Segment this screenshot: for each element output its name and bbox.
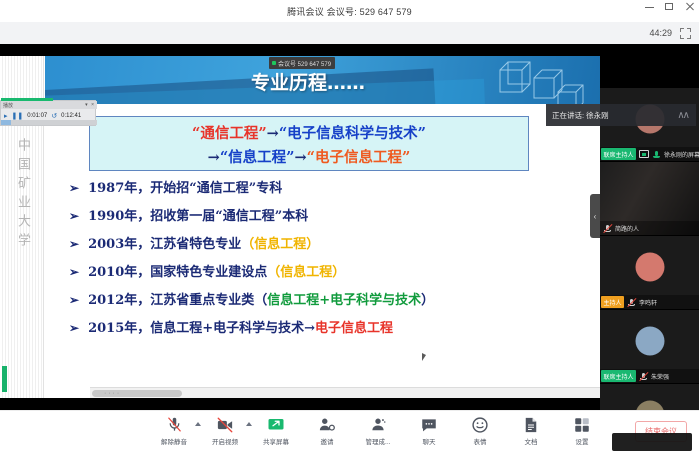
highlight-line-2-run-0: → (208, 149, 220, 166)
invite-user-icon (308, 415, 346, 434)
highlight-line-1-run-0: “通信工程” (192, 125, 267, 142)
chevron-up-icon[interactable] (195, 422, 201, 426)
participant-namebar: 联席主持人朱荣强 (600, 369, 699, 383)
highlight-line-2-run-1: “信息工程” (220, 149, 295, 166)
current-speaker-label: 正在讲话: 徐永刚 ∧∧ (546, 104, 696, 126)
player-title: 播放 (3, 102, 13, 109)
participant-tile[interactable]: 联席主持人朱荣强 (600, 310, 699, 384)
mic-on-icon (652, 150, 661, 159)
toolbar-item-label: 开启视频 (206, 436, 244, 446)
meeting-timer: 44:29 (649, 28, 672, 38)
slide-body: 专业历程…… 会议号 529 647 579 “通信工程”→“电子信息科学与技术… (45, 56, 600, 398)
participant-role-badge: 联席主持人 (601, 370, 636, 382)
participant-tile[interactable]: 简路的人 (600, 162, 699, 236)
mic-muted-icon (155, 415, 193, 434)
pause-icon[interactable]: ❚❚ (12, 112, 24, 120)
highlight-line-2-run-2: → (295, 149, 307, 166)
slide-bullet-text: 2012年，江苏省重点专业类（信息工程+电子科学与技术） (88, 292, 434, 309)
window-controls (644, 1, 695, 12)
chevron-up-icon[interactable] (246, 422, 252, 426)
slide-vertical-brand: 中国矿业大学 (13, 138, 32, 252)
participant-namebar: 主持人李鸣轩 (600, 295, 699, 309)
media-player-overlay[interactable]: 播放 ▾ × ▸ ❚❚ 0:01:07 ↺ 0:12:41 (0, 100, 96, 126)
mic-muted-icon (627, 298, 636, 307)
participant-name: 朱荣强 (651, 372, 669, 381)
slide-bullet-text: 2010年，国家特色专业建设点（信息工程） (88, 264, 345, 281)
toolbar-settings-grid-button[interactable]: 设置 (563, 415, 601, 446)
bullet-marker-icon: ➢ (69, 292, 79, 309)
manage-members-icon (359, 415, 397, 434)
participant-tile[interactable]: 主持人李鸣轩 (600, 236, 699, 310)
camera-off-icon (206, 415, 244, 434)
bullet-0-run-0: 1987年，开始招“通信工程”专科 (88, 181, 282, 196)
toolbar-document-button[interactable]: 文档 (512, 415, 550, 446)
meeting-number-text: 会议号 529 647 579 (278, 62, 331, 68)
toolbar-item-label: 表情 (461, 436, 499, 446)
settings-grid-icon (563, 415, 601, 434)
meeting-toolbar: 解除静音开启视频共享屏幕邀请管理成...聊天表情文档设置 结束会议 (0, 410, 699, 451)
slide-bullet-text: 2015年，信息工程+电子科学与技术→电子信息工程 (88, 320, 393, 337)
meeting-subbar: 44:29 (0, 22, 699, 44)
slide-bullet-item: ➢2003年，江苏省特色专业（信息工程） (69, 236, 589, 253)
highlight-line-1-run-2: “电子信息科学与技术” (279, 125, 426, 142)
player-progress-track[interactable] (1, 120, 97, 125)
player-total-time: 0:12:41 (61, 113, 81, 119)
participant-name: 简路的人 (615, 224, 639, 233)
slide-bullet-text: 1990年，招收第一届“通信工程”本科 (88, 208, 308, 225)
toolbar-mic-muted-button[interactable]: 解除静音 (155, 415, 193, 446)
bullet-2-run-1: （信息工程） (241, 237, 319, 252)
bullet-4-run-1: 信息工程+电子科学与技术 (267, 293, 421, 308)
fullscreen-icon[interactable] (680, 28, 691, 39)
bullet-marker-icon: ➢ (69, 264, 79, 281)
slide-horizontal-scrollbar[interactable]: · · · · (90, 387, 600, 398)
recording-dot-icon (272, 61, 276, 65)
bullet-4-run-0: 2012年，江苏省重点专业类（ (88, 293, 267, 308)
toolbar-emoji-button[interactable]: 表情 (461, 415, 499, 446)
highlight-line-1-run-1: → (267, 125, 279, 142)
slide-highlight-box: “通信工程”→“电子信息科学与技术” →“信息工程”→“电子信息工程” (89, 116, 529, 171)
mic-muted-icon (603, 224, 612, 233)
slide-bullet-item: ➢2015年，信息工程+电子科学与技术→电子信息工程 (69, 320, 589, 337)
player-titlebar: 播放 ▾ × (1, 101, 97, 109)
participant-role-badge: 联席主持人 (601, 148, 636, 160)
emoji-icon (461, 415, 499, 434)
slide-bullet-list: ➢1987年，开始招“通信工程”专科➢1990年，招收第一届“通信工程”本科➢2… (69, 180, 589, 348)
toolbar-item-label: 设置 (563, 436, 601, 446)
play-icon[interactable]: ▸ (4, 112, 8, 120)
window-title: 腾讯会议 会议号: 529 647 579 (287, 5, 412, 18)
toolbar-item-label: 共享屏幕 (257, 436, 295, 446)
toolbar-item-label: 文档 (512, 436, 550, 446)
bullet-1-run-0: 1990年，招收第一届“通信工程”本科 (88, 209, 308, 224)
chat-bubble-icon (410, 415, 448, 434)
meeting-stage: 中国矿业大学 (0, 44, 699, 410)
toolbar-item-label: 管理成... (359, 436, 397, 446)
meeting-number-badge: 会议号 529 647 579 (269, 57, 335, 69)
participant-namebar: 简路的人 (600, 221, 699, 235)
toolbar-items: 解除静音开启视频共享屏幕邀请管理成...聊天表情文档设置 (155, 415, 601, 446)
toolbar-item-label: 聊天 (410, 436, 448, 446)
screen-share-icon (639, 150, 649, 158)
toolbar-chat-bubble-button[interactable]: 聊天 (410, 415, 448, 446)
chevron-left-icon: ‹ (594, 212, 597, 221)
player-progress-fill (1, 120, 11, 125)
slide-bullet-text: 2003年，江苏省特色专业（信息工程） (88, 236, 319, 253)
participant-filmstrip[interactable]: 联席主持人徐永刚的屏幕共享简路的人主持人李鸣轩联席主持人朱荣强联席主持人9-1 … (600, 88, 699, 451)
bullet-marker-icon: ➢ (69, 208, 79, 225)
player-window-controls[interactable]: ▾ × (85, 102, 95, 108)
slide-bullet-item: ➢2012年，江苏省重点专业类（信息工程+电子科学与技术） (69, 292, 589, 309)
bullet-3-run-0: 2010年，国家特色专业建设点 (88, 265, 267, 280)
slide-bullet-item: ➢1987年，开始招“通信工程”专科 (69, 180, 589, 197)
cube-decoration-icon (482, 58, 592, 104)
participant-namebar: 联席主持人徐永刚的屏幕共享 (600, 147, 699, 161)
toolbar-item-label: 邀请 (308, 436, 346, 446)
slide-bullet-item: ➢1990年，招收第一届“通信工程”本科 (69, 208, 589, 225)
slide-bullet-item: ➢2010年，国家特色专业建设点（信息工程） (69, 264, 589, 281)
bullet-2-run-0: 2003年，江苏省特色专业 (88, 237, 241, 252)
window-titlebar: 腾讯会议 会议号: 529 647 579 (0, 0, 699, 22)
toolbar-manage-members-button[interactable]: 管理成... (359, 415, 397, 446)
player-current-time: 0:01:07 (27, 113, 47, 119)
toolbar-invite-user-button[interactable]: 邀请 (308, 415, 346, 446)
toolbar-share-screen-button[interactable]: 共享屏幕 (257, 415, 295, 446)
participant-avatar (635, 252, 664, 281)
bullet-5-run-0: 2015年，信息工程+电子科学与技术→ (88, 321, 315, 336)
sidepanel-collapse-handle[interactable]: ‹ (590, 194, 600, 238)
mic-muted-icon (639, 372, 648, 381)
chevron-collapse-icon[interactable]: ∧∧ (677, 110, 688, 121)
mouse-cursor (422, 353, 426, 361)
replay-icon[interactable]: ↺ (51, 112, 57, 120)
participant-name: 徐永刚的屏幕共享 (664, 150, 699, 159)
participant-tooltip (612, 433, 692, 451)
slide-title: 专业历程…… (251, 68, 365, 95)
bullet-5-run-1: 电子信息工程 (315, 321, 393, 336)
scrollbar-dots-icon: · · · · (104, 390, 119, 397)
bullet-4-run-2: ） (421, 293, 434, 308)
toolbar-item-label: 解除静音 (155, 436, 193, 446)
participant-role-badge: 主持人 (601, 296, 624, 308)
slide-header: 专业历程…… 会议号 529 647 579 (45, 56, 600, 104)
bullet-marker-icon: ➢ (69, 180, 79, 197)
highlight-line-1: “通信工程”→“电子信息科学与技术” (90, 122, 528, 146)
document-icon (512, 415, 550, 434)
highlight-line-2: →“信息工程”→“电子信息工程” (90, 146, 528, 170)
close-icon[interactable] (684, 1, 695, 12)
toolbar-camera-off-button[interactable]: 开启视频 (206, 415, 244, 446)
slide-green-marker (2, 366, 7, 392)
bullet-marker-icon: ➢ (69, 236, 79, 253)
minimize-icon[interactable] (644, 1, 655, 12)
highlight-line-2-run-3: “电子信息工程” (307, 149, 411, 166)
participant-avatar (635, 326, 664, 355)
participant-name: 李鸣轩 (639, 298, 657, 307)
current-speaker-text: 正在讲话: 徐永刚 (552, 110, 609, 121)
bullet-marker-icon: ➢ (69, 320, 79, 337)
tencent-meeting-window: 腾讯会议 会议号: 529 647 579 44:29 中国矿业大学 (0, 0, 699, 451)
slide-bullet-text: 1987年，开始招“通信工程”专科 (88, 180, 282, 197)
share-screen-icon (257, 415, 295, 434)
bullet-3-run-1: （信息工程） (267, 265, 345, 280)
maximize-icon[interactable] (664, 1, 675, 12)
